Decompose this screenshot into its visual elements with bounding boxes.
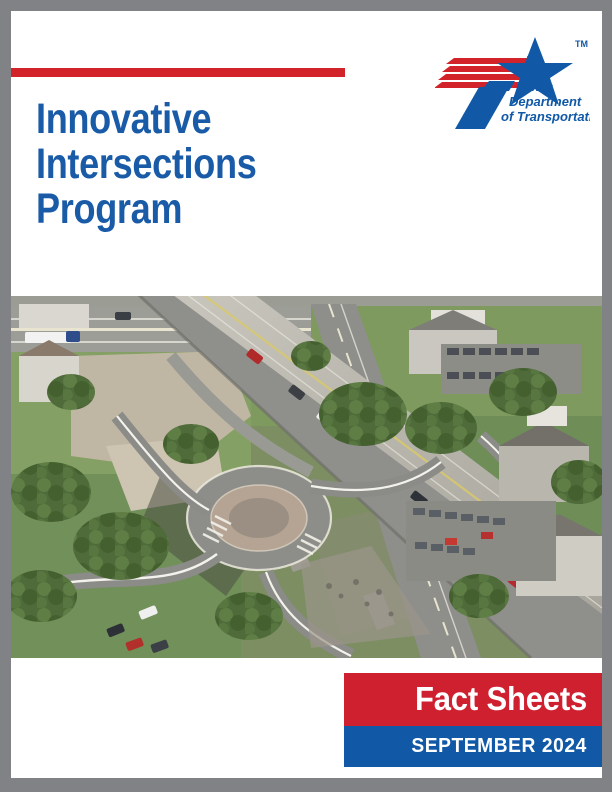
banner-title-label: Fact Sheets: [415, 680, 587, 718]
page-title-line-1: Innovative: [36, 97, 389, 142]
page-title: Innovative Intersections Program: [36, 97, 456, 232]
logo-agency-line-1: Texas: [517, 79, 553, 94]
red-divider-rule: [11, 68, 345, 77]
aerial-interchange-photo: [11, 296, 602, 658]
logo-agency-line-2: Department: [509, 94, 582, 109]
fact-sheets-banner: Fact Sheets SEPTEMBER 2024: [344, 673, 602, 767]
document-page: Innovative Intersections Program TM: [11, 11, 602, 778]
logo-agency-line-3: of Transportation: [501, 109, 590, 124]
banner-date-label: SEPTEMBER 2024: [411, 734, 587, 758]
page-title-line-3: Program: [36, 187, 389, 232]
page-title-line-2: Intersections: [36, 142, 389, 187]
logo-trademark: TM: [575, 39, 588, 49]
txdot-logo: TM Texas Department of Transportation: [435, 25, 590, 130]
